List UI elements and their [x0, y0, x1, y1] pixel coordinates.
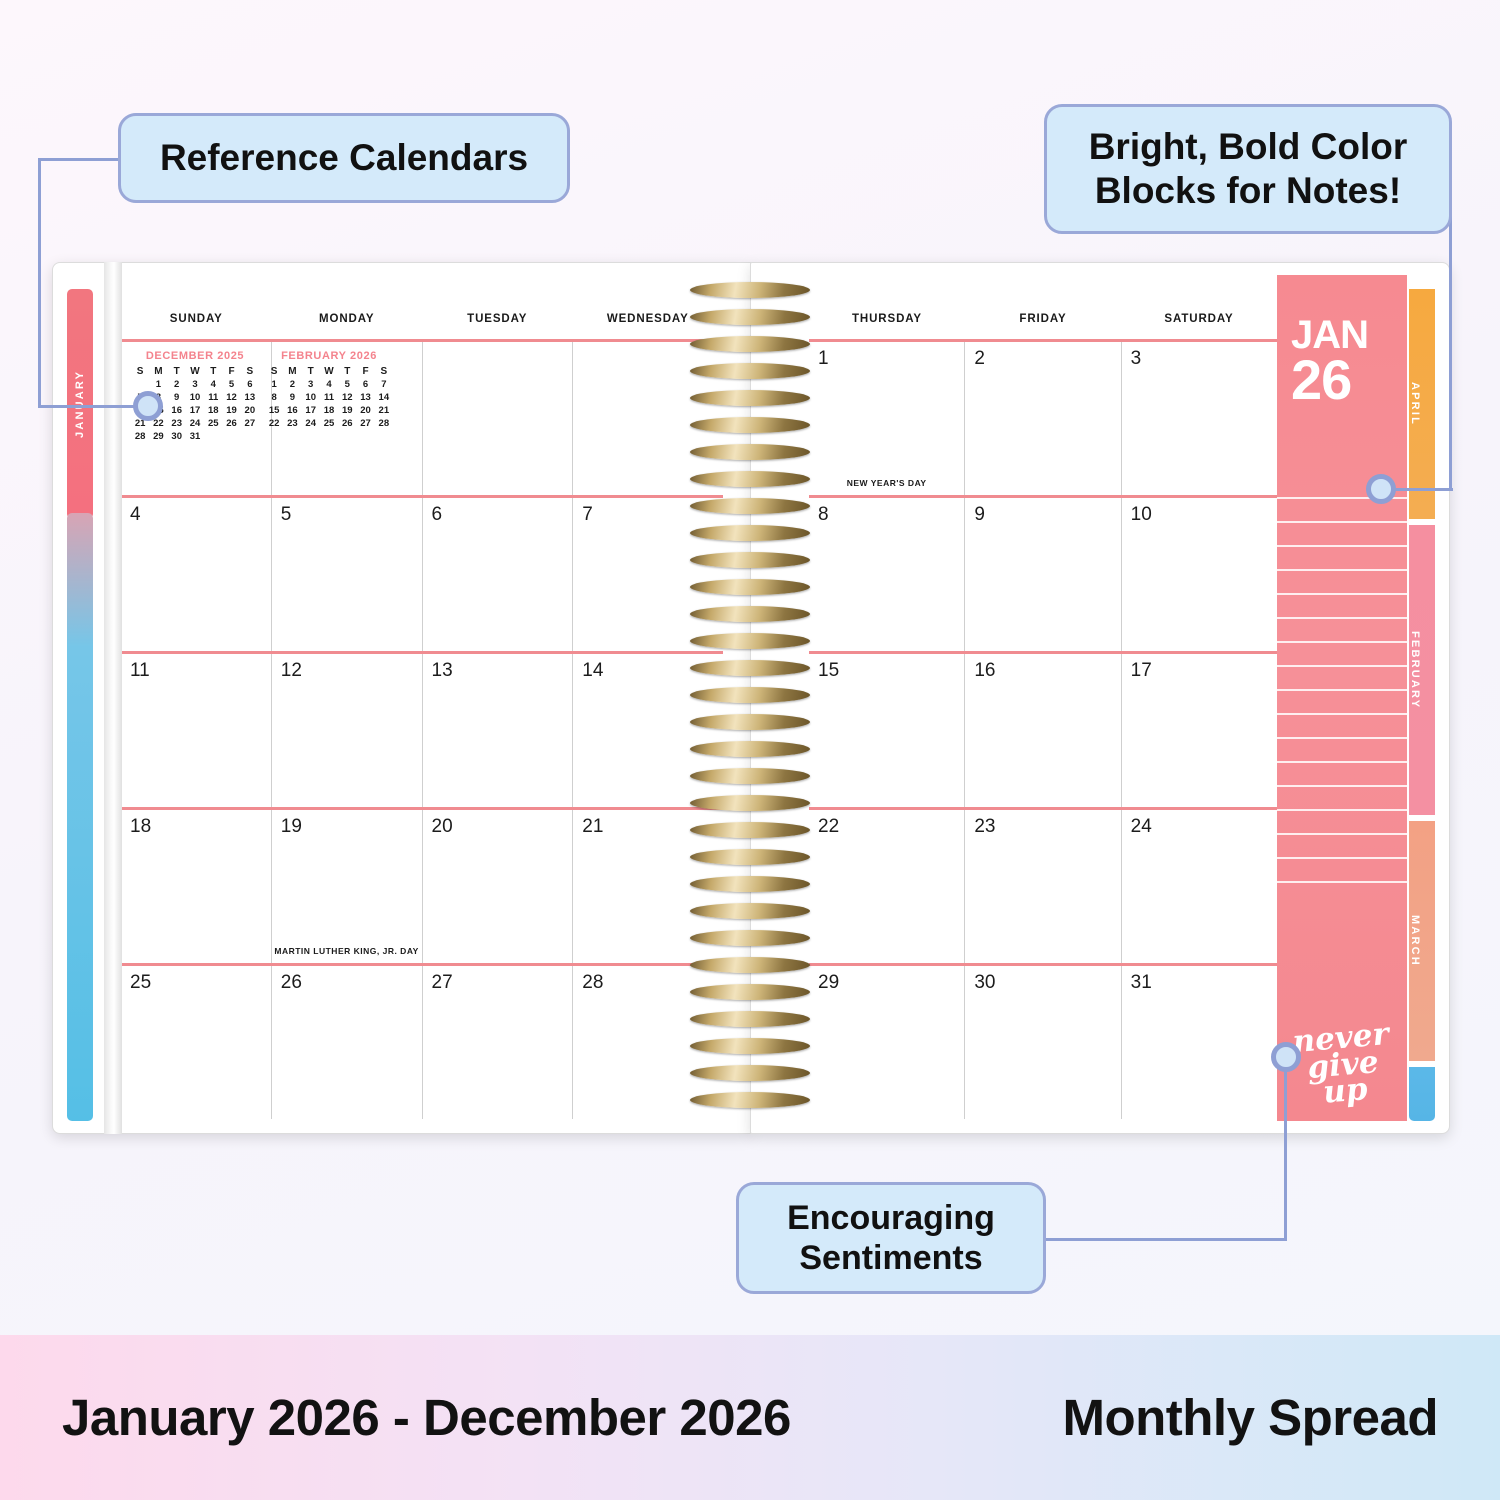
mini-day: 29: [149, 430, 167, 443]
spiral-coil: [690, 849, 810, 865]
calendar-week-row: 1NEW YEAR'S DAY23: [809, 342, 1277, 498]
mini-day-blank: [204, 430, 222, 443]
banner-date-range: January 2026 - December 2026: [62, 1388, 791, 1447]
mini-day: 7: [375, 378, 393, 391]
day-of-week-saturday: SATURDAY: [1121, 313, 1277, 339]
mini-dow: F: [356, 365, 374, 378]
calendar-day-cell[interactable]: 16: [965, 654, 1121, 807]
banner-spread-type: Monthly Spread: [1062, 1388, 1438, 1447]
mini-day: 6: [241, 378, 259, 391]
calendar-day-cell[interactable]: 25: [121, 966, 272, 1119]
mini-dow: M: [283, 365, 301, 378]
mini-day-blank: [241, 430, 259, 443]
spiral-coil: [690, 336, 810, 352]
mini-dow: S: [131, 365, 149, 378]
spiral-coil: [690, 282, 810, 298]
calendar-week-row: 293031: [809, 966, 1277, 1119]
spiral-coil: [690, 444, 810, 460]
note-line[interactable]: [1277, 857, 1407, 859]
spiral-coil: [690, 579, 810, 595]
mini-day-blank: [302, 430, 320, 443]
mini-day: 12: [222, 391, 240, 404]
mini-day-blank: [131, 378, 149, 391]
mini-day: 12: [338, 391, 356, 404]
day-of-week-header-left: SUNDAYMONDAYTUESDAYWEDNESDAY: [121, 313, 723, 339]
mini-day: 6: [356, 378, 374, 391]
mini-day: 2: [283, 378, 301, 391]
calendar-day-cell[interactable]: 17: [1122, 654, 1277, 807]
anchor-dot-reference: [133, 391, 163, 421]
notes-color-block[interactable]: JAN 26 never give up: [1277, 275, 1407, 1121]
spiral-coil: [690, 687, 810, 703]
spiral-coil: [690, 957, 810, 973]
mini-dow: M: [149, 365, 167, 378]
mini-calendar-title: DECEMBER 2025: [131, 350, 259, 362]
note-line[interactable]: [1277, 881, 1407, 883]
calendar-day-cell[interactable]: 18: [121, 810, 272, 963]
day-of-week-sunday: SUNDAY: [121, 313, 272, 339]
mini-day: 22: [265, 417, 283, 430]
spiral-coil: [690, 660, 810, 676]
spiral-coil: [690, 309, 810, 325]
mini-day: 11: [320, 391, 338, 404]
mini-day: 2: [168, 378, 186, 391]
mini-day-blank: [265, 430, 283, 443]
note-line[interactable]: [1277, 545, 1407, 547]
spiral-coil: [690, 876, 810, 892]
spiral-coil: [690, 795, 810, 811]
calendar-day-number: 5: [281, 504, 422, 526]
mini-day: 1: [149, 378, 167, 391]
mini-dow: S: [375, 365, 393, 378]
spiral-coil: [690, 471, 810, 487]
calendar-day-cell[interactable]: 10: [1122, 498, 1277, 651]
calendar-day-cell[interactable]: 8: [809, 498, 965, 651]
calendar-day-cell[interactable]: 20: [423, 810, 574, 963]
calendar-day-number: 6: [432, 504, 573, 526]
mini-day: 30: [168, 430, 186, 443]
spiral-coil: [690, 1065, 810, 1081]
callout-color-line2: Blocks for Notes!: [1089, 169, 1408, 213]
note-line[interactable]: [1277, 737, 1407, 739]
spiral-coil: [690, 1038, 810, 1054]
calendar-day-number: 13: [432, 660, 573, 682]
mini-day: 16: [283, 404, 301, 417]
spiral-coil: [690, 714, 810, 730]
mini-day: 19: [338, 404, 356, 417]
mini-day: 28: [131, 430, 149, 443]
calendar-day-cell[interactable]: [423, 342, 574, 495]
mini-day: 3: [302, 378, 320, 391]
calendar-day-number: 24: [1131, 816, 1277, 838]
calendar-day-number: 4: [130, 504, 271, 526]
planner-page-right: THURSDAYFRIDAYSATURDAY 1NEW YEAR'S DAY23…: [750, 262, 1450, 1134]
mini-dow: S: [241, 365, 259, 378]
calendar-day-number: 31: [1131, 972, 1277, 994]
calendar-day-cell[interactable]: 9: [965, 498, 1121, 651]
callout-senti-line2: Sentiments: [787, 1238, 995, 1278]
edge-tab-february-label: FEBRUARY: [1409, 525, 1421, 815]
calendar-day-number: 26: [281, 972, 422, 994]
calendar-day-number: 3: [1131, 348, 1277, 370]
mini-day: 23: [168, 417, 186, 430]
mini-day-blank: [320, 430, 338, 443]
note-line[interactable]: [1277, 569, 1407, 571]
note-line[interactable]: [1277, 617, 1407, 619]
mini-day: 20: [241, 404, 259, 417]
edge-tab-january-label: JANUARY: [74, 370, 86, 438]
mini-day: 18: [204, 404, 222, 417]
calendar-day-number: 2: [974, 348, 1120, 370]
calendar-day-cell[interactable]: 2: [965, 342, 1121, 495]
mini-day: 14: [375, 391, 393, 404]
calendar-week-row: 8910: [809, 498, 1277, 654]
calendar-day-cell[interactable]: 26: [272, 966, 423, 1119]
calendar-day-number: 22: [818, 816, 964, 838]
mini-day: 24: [302, 417, 320, 430]
spiral-coil: [690, 822, 810, 838]
note-line[interactable]: [1277, 665, 1407, 667]
mini-day: 20: [356, 404, 374, 417]
calendar-holiday-label: MARTIN LUTHER KING, JR. DAY: [272, 946, 422, 956]
edge-tab-march-label: MARCH: [1409, 821, 1421, 1061]
mini-dow: T: [204, 365, 222, 378]
day-of-week-header-right: THURSDAYFRIDAYSATURDAY: [809, 313, 1277, 339]
anchor-dot-sentiments: [1271, 1042, 1301, 1072]
calendar-day-number: 23: [974, 816, 1120, 838]
calendar-day-cell[interactable]: 29: [809, 966, 965, 1119]
calendar-week-row: 25262728: [121, 966, 723, 1119]
note-line[interactable]: [1277, 785, 1407, 787]
spiral-coil: [690, 1092, 810, 1108]
mini-day: 17: [186, 404, 204, 417]
mini-day-blank: [283, 430, 301, 443]
mini-day: 27: [356, 417, 374, 430]
spiral-coil: [690, 525, 810, 541]
edge-tab-april[interactable]: APRIL: [1409, 289, 1435, 519]
month-badge: JAN 26: [1277, 275, 1407, 405]
day-of-week-friday: FRIDAY: [965, 313, 1121, 339]
spiral-coil: [690, 552, 810, 568]
calendar-day-number: 20: [432, 816, 573, 838]
calendar-day-cell[interactable]: 22: [809, 810, 965, 963]
calendar-day-number: 16: [974, 660, 1120, 682]
mini-day: 21: [375, 404, 393, 417]
mini-day: 9: [283, 391, 301, 404]
calendar-week-row: 11121314: [121, 654, 723, 810]
calendar-grid-right: THURSDAYFRIDAYSATURDAY 1NEW YEAR'S DAY23…: [809, 313, 1277, 1119]
calendar-day-cell[interactable]: 13: [423, 654, 574, 807]
spiral-coil: [690, 417, 810, 433]
mini-day: 24: [186, 417, 204, 430]
spiral-binding: [690, 282, 810, 1118]
callout-color-blocks: Bright, Bold Color Blocks for Notes!: [1044, 104, 1452, 234]
calendar-day-number: 30: [974, 972, 1120, 994]
day-of-week-thursday: THURSDAY: [809, 313, 965, 339]
calendar-day-number: 8: [818, 504, 964, 526]
calendar-day-number: 18: [130, 816, 271, 838]
mini-day: 15: [265, 404, 283, 417]
calendar-day-number: 1: [818, 348, 964, 370]
calendar-day-cell[interactable]: 4: [121, 498, 272, 651]
note-line[interactable]: [1277, 689, 1407, 691]
spiral-coil: [690, 930, 810, 946]
mini-calendar-title: FEBRUARY 2026: [265, 350, 393, 362]
mini-dow: S: [265, 365, 283, 378]
calendar-day-number: 27: [432, 972, 573, 994]
mini-day: 1: [265, 378, 283, 391]
mini-dow: T: [338, 365, 356, 378]
day-of-week-monday: MONDAY: [272, 313, 423, 339]
page-gutter: [104, 262, 122, 1134]
calendar-day-number: 12: [281, 660, 422, 682]
edge-tab-january[interactable]: JANUARY: [67, 289, 93, 519]
calendar-grid-left: SUNDAYMONDAYTUESDAYWEDNESDAY DECEMBER 20…: [121, 313, 723, 1119]
calendar-day-cell[interactable]: 12: [272, 654, 423, 807]
note-line[interactable]: [1277, 761, 1407, 763]
calendar-week-row: 151617: [809, 654, 1277, 810]
sentiment-lettering: never give up: [1280, 1020, 1407, 1110]
mini-day: 3: [186, 378, 204, 391]
note-line[interactable]: [1277, 809, 1407, 811]
edge-tab-april-label: APRIL: [1409, 289, 1421, 519]
planner-page-left: JANUARY SUNDAYMONDAYTUESDAYWEDNESDAY DEC…: [52, 262, 752, 1134]
spiral-coil: [690, 741, 810, 757]
mini-day-blank: [375, 430, 393, 443]
spiral-coil: [690, 903, 810, 919]
calendar-day-cell[interactable]: 1NEW YEAR'S DAY: [809, 342, 965, 495]
calendar-day-cell[interactable]: 27: [423, 966, 574, 1119]
reference-calendars-group: DECEMBER 2025SMTWTFS 1234567891011121314…: [121, 342, 393, 443]
edge-tab-february[interactable]: FEBRUARY: [1409, 525, 1435, 815]
spiral-coil: [690, 633, 810, 649]
mini-day-blank: [356, 430, 374, 443]
mini-day: 26: [222, 417, 240, 430]
mini-day: 26: [338, 417, 356, 430]
planner-spread: JANUARY SUNDAYMONDAYTUESDAYWEDNESDAY DEC…: [52, 262, 1450, 1134]
calendar-day-cell[interactable]: 31: [1122, 966, 1277, 1119]
calendar-week-row: 4567: [121, 498, 723, 654]
mini-day-blank: [222, 430, 240, 443]
mini-dow: T: [302, 365, 320, 378]
note-ruling-lines[interactable]: [1277, 497, 1407, 971]
mini-day: 4: [320, 378, 338, 391]
mini-day: 23: [283, 417, 301, 430]
edge-tab-march[interactable]: MARCH: [1409, 821, 1435, 1061]
calendar-day-number: 11: [130, 660, 271, 682]
callout-sentiments: Encouraging Sentiments: [736, 1182, 1046, 1294]
spiral-coil: [690, 498, 810, 514]
mini-day: 17: [302, 404, 320, 417]
note-line[interactable]: [1277, 521, 1407, 523]
mini-dow: F: [222, 365, 240, 378]
bottom-banner: January 2026 - December 2026 Monthly Spr…: [0, 1335, 1500, 1500]
anchor-dot-color-blocks: [1366, 474, 1396, 504]
spiral-coil: [690, 984, 810, 1000]
note-line[interactable]: [1277, 593, 1407, 595]
mini-day: 27: [241, 417, 259, 430]
mini-day: 5: [338, 378, 356, 391]
spiral-coil: [690, 390, 810, 406]
calendar-day-cell[interactable]: 23: [965, 810, 1121, 963]
mini-day: 13: [356, 391, 374, 404]
mini-dow: W: [186, 365, 204, 378]
callout-reference-label: Reference Calendars: [160, 136, 528, 180]
mini-day: 25: [320, 417, 338, 430]
callout-senti-line1: Encouraging: [787, 1198, 995, 1238]
calendar-week-row: 222324: [809, 810, 1277, 966]
calendar-week-row: DECEMBER 2025SMTWTFS 1234567891011121314…: [121, 342, 723, 498]
note-line[interactable]: [1277, 833, 1407, 835]
day-of-week-tuesday: TUESDAY: [422, 313, 573, 339]
mini-day: 4: [204, 378, 222, 391]
calendar-day-number: 15: [818, 660, 964, 682]
mini-day: 9: [168, 391, 186, 404]
calendar-day-cell[interactable]: 5: [272, 498, 423, 651]
calendar-day-cell[interactable]: 11: [121, 654, 272, 807]
mini-day: 18: [320, 404, 338, 417]
spiral-coil: [690, 363, 810, 379]
mini-calendar: FEBRUARY 2026SMTWTFS12345678910111213141…: [265, 350, 393, 443]
spiral-coil: [690, 1011, 810, 1027]
calendar-day-number: 29: [818, 972, 964, 994]
calendar-day-cell[interactable]: 6: [423, 498, 574, 651]
mini-dow: T: [168, 365, 186, 378]
calendar-day-cell[interactable]: 19MARTIN LUTHER KING, JR. DAY: [272, 810, 423, 963]
mini-day: 5: [222, 378, 240, 391]
mini-day-blank: [338, 430, 356, 443]
mini-day: 10: [302, 391, 320, 404]
mini-day: 13: [241, 391, 259, 404]
calendar-day-number: 19: [281, 816, 422, 838]
callout-color-line1: Bright, Bold Color: [1089, 125, 1408, 169]
note-line[interactable]: [1277, 641, 1407, 643]
mini-dow: W: [320, 365, 338, 378]
mini-day: 28: [375, 417, 393, 430]
spiral-coil: [690, 768, 810, 784]
mini-day: 8: [265, 391, 283, 404]
edge-tab-blue-right[interactable]: [1409, 1067, 1435, 1121]
month-badge-year: 26: [1291, 354, 1407, 406]
callout-reference-calendars: Reference Calendars: [118, 113, 570, 203]
calendar-day-number: 9: [974, 504, 1120, 526]
spiral-coil: [690, 606, 810, 622]
note-line[interactable]: [1277, 713, 1407, 715]
mini-day: 19: [222, 404, 240, 417]
edge-tab-blue-left[interactable]: [67, 513, 93, 1121]
calendar-day-cell[interactable]: 24: [1122, 810, 1277, 963]
calendar-day-cell[interactable]: 15: [809, 654, 965, 807]
mini-day: 16: [168, 404, 186, 417]
calendar-holiday-label: NEW YEAR'S DAY: [809, 478, 964, 488]
calendar-day-cell[interactable]: 30: [965, 966, 1121, 1119]
calendar-day-cell[interactable]: 3: [1122, 342, 1277, 495]
mini-day: 10: [186, 391, 204, 404]
mini-day: 31: [186, 430, 204, 443]
calendar-day-number: 17: [1131, 660, 1277, 682]
calendar-day-number: 10: [1131, 504, 1277, 526]
calendar-day-number: 25: [130, 972, 271, 994]
mini-day: 11: [204, 391, 222, 404]
calendar-week-row: 1819MARTIN LUTHER KING, JR. DAY2021: [121, 810, 723, 966]
mini-day: 25: [204, 417, 222, 430]
